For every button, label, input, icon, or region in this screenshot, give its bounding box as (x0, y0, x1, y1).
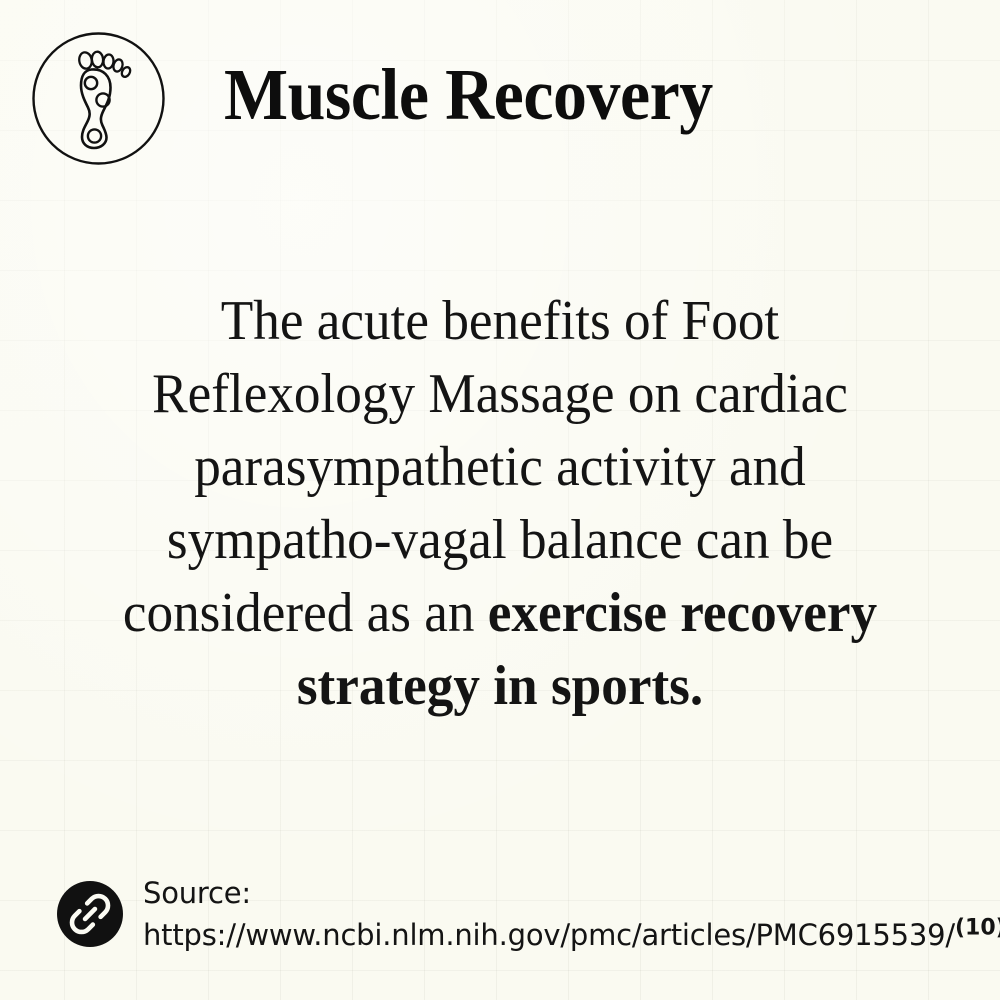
source-url-line: https://www.ncbi.nlm.nih.gov/pmc/article… (143, 914, 1000, 956)
page-title: Muscle Recovery (224, 52, 713, 138)
footprint-icon (31, 31, 166, 166)
infographic-card: Muscle Recovery The acute benefits of Fo… (0, 0, 1000, 1000)
card-header: Muscle Recovery (0, 0, 1000, 190)
source-text: Source: https://www.ncbi.nlm.nih.gov/pmc… (143, 872, 1000, 956)
source-block: Source: https://www.ncbi.nlm.nih.gov/pmc… (56, 872, 1000, 962)
link-icon (56, 880, 124, 948)
source-reference-number: (10) (955, 915, 1000, 940)
source-label: Source: (143, 872, 1000, 914)
source-url[interactable]: https://www.ncbi.nlm.nih.gov/pmc/article… (143, 918, 955, 952)
statement-text: The acute benefits of Foot Reflexology M… (115, 285, 885, 723)
